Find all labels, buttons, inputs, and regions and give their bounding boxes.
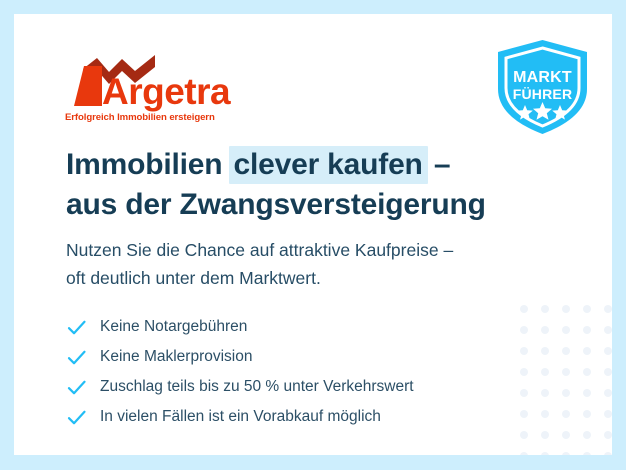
list-item-label: Keine Notargebühren: [100, 317, 247, 337]
argetra-logo[interactable]: Argetra Erfolgreich Immobilien ersteiger…: [56, 46, 256, 126]
logo-tagline: Erfolgreich Immobilien ersteigern: [65, 112, 215, 123]
benefits-list: Keine Notargebühren Keine Maklerprovisio…: [66, 312, 586, 432]
badge-line1: MARKT: [513, 69, 572, 86]
dot: [562, 452, 570, 455]
logo-a-mark-icon: [74, 66, 102, 106]
check-icon: [66, 377, 87, 398]
dot: [520, 431, 528, 439]
dot: [604, 431, 612, 439]
dot: [520, 452, 528, 455]
check-icon: [66, 317, 87, 338]
dot: [583, 452, 591, 455]
check-icon: [66, 347, 87, 368]
dot: [604, 368, 612, 376]
markt-fuehrer-badge: MARKT FÜHRER: [489, 37, 596, 137]
dot: [541, 452, 549, 455]
subheadline-line-2: oft deutlich unter dem Marktwert.: [66, 264, 586, 292]
dot: [604, 452, 612, 455]
logo-wordmark: Argetra: [102, 71, 231, 112]
headline-line-2: aus der Zwangsversteigerung: [66, 185, 566, 225]
headline-line-1: Immobilien clever kaufen –: [66, 145, 566, 185]
headline-highlight: clever kaufen: [229, 146, 428, 184]
subheadline-line-1: Nutzen Sie die Chance auf attraktive Kau…: [66, 236, 586, 264]
headline-text-before: Immobilien: [66, 148, 231, 181]
dot: [562, 431, 570, 439]
list-item: Keine Maklerprovision: [66, 342, 586, 372]
subheadline: Nutzen Sie die Chance auf attraktive Kau…: [66, 236, 586, 292]
promo-banner: Argetra Erfolgreich Immobilien ersteiger…: [0, 0, 626, 470]
dot: [583, 431, 591, 439]
headline-text-after: –: [426, 148, 451, 181]
list-item-label: Keine Maklerprovision: [100, 347, 253, 367]
dot: [604, 326, 612, 334]
check-icon: [66, 407, 87, 428]
banner-canvas: Argetra Erfolgreich Immobilien ersteiger…: [14, 14, 612, 455]
list-item: Keine Notargebühren: [66, 312, 586, 342]
list-item: Zuschlag teils bis zu 50 % unter Verkehr…: [66, 372, 586, 402]
badge-svg: MARKT FÜHRER: [489, 37, 596, 137]
dot: [541, 431, 549, 439]
dot: [604, 347, 612, 355]
dot: [604, 305, 612, 313]
list-item: In vielen Fällen ist ein Vorabkauf mögli…: [66, 402, 586, 432]
page-title: Immobilien clever kaufen – aus der Zwang…: [66, 145, 566, 225]
badge-line2: FÜHRER: [513, 86, 573, 102]
dot: [604, 410, 612, 418]
argetra-logo-svg: Argetra Erfolgreich Immobilien ersteiger…: [56, 46, 256, 126]
dot: [604, 389, 612, 397]
list-item-label: Zuschlag teils bis zu 50 % unter Verkehr…: [100, 377, 414, 397]
list-item-label: In vielen Fällen ist ein Vorabkauf mögli…: [100, 407, 381, 427]
